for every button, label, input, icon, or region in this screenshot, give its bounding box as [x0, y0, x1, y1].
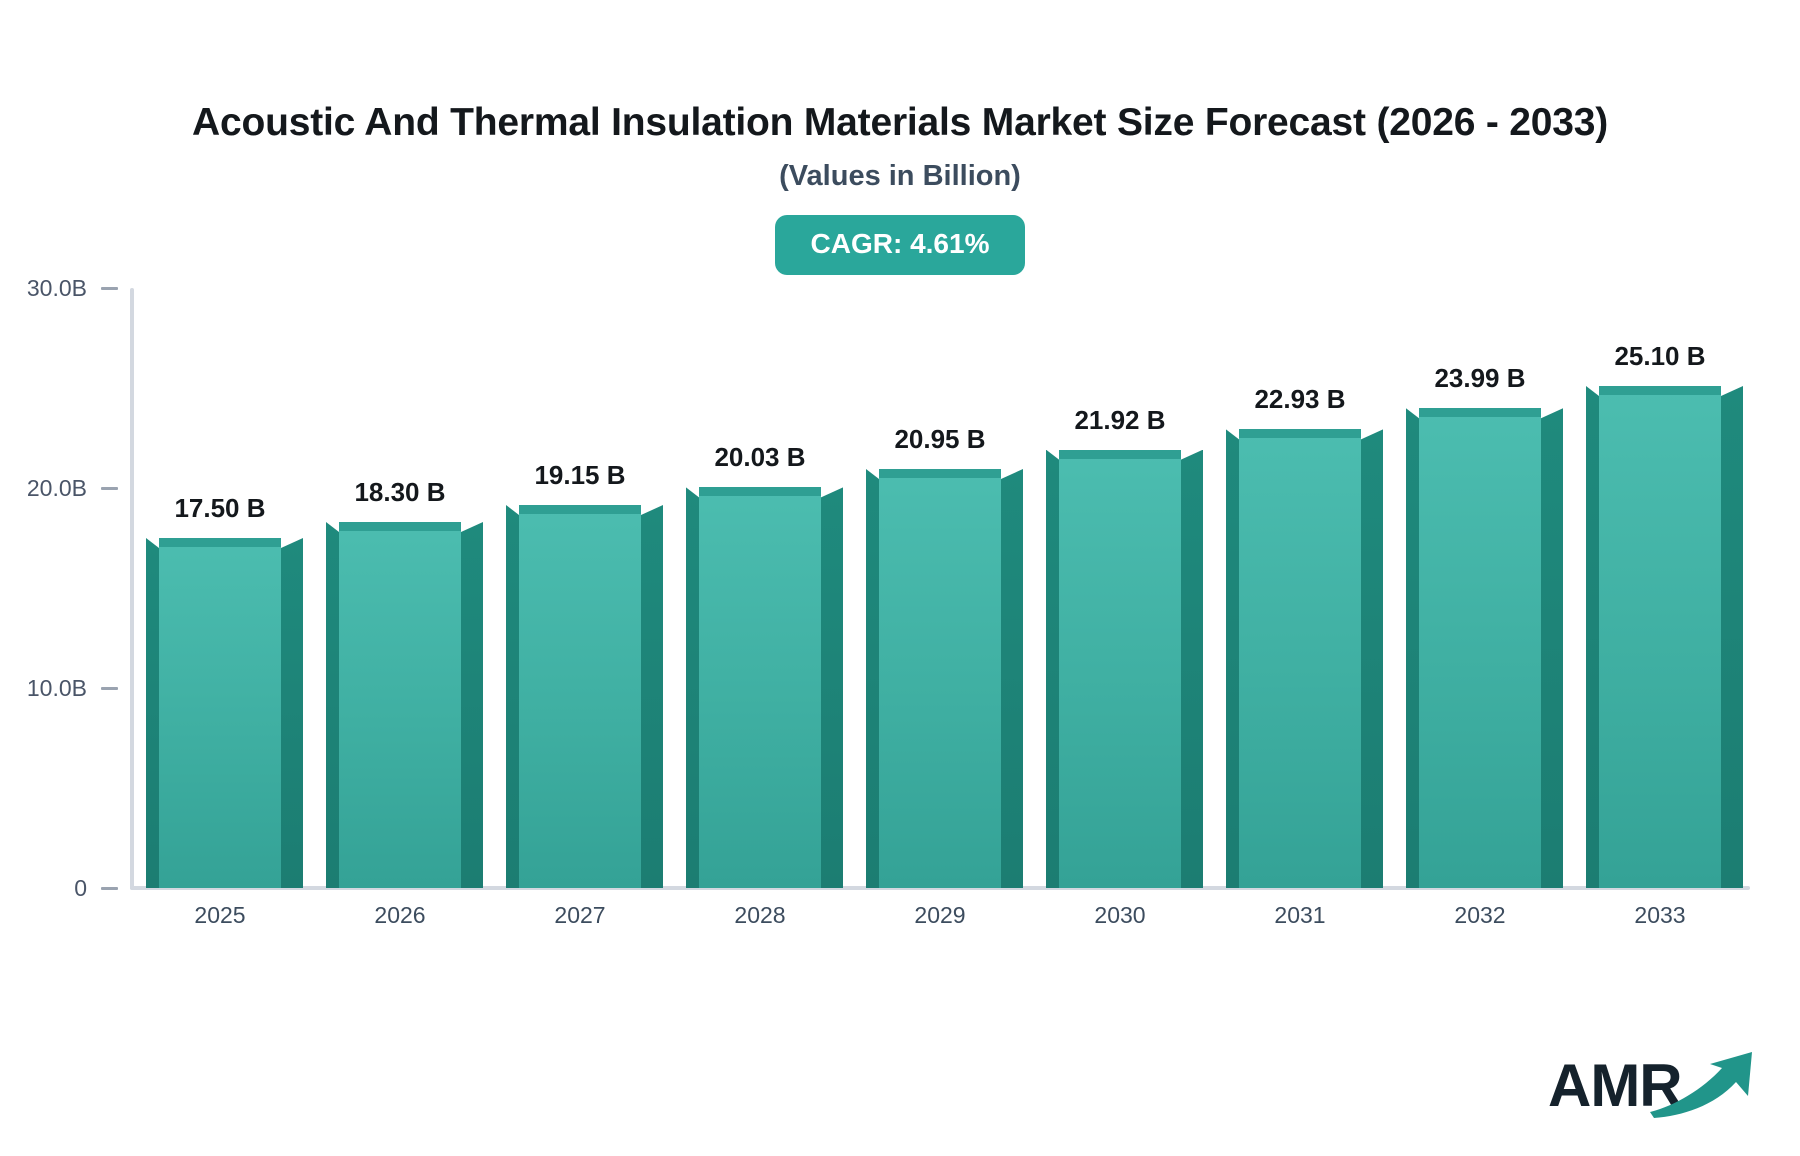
bar-series: 17.50 B18.30 B19.15 B20.03 B20.95 B21.92… — [130, 288, 1750, 888]
bar-column[interactable] — [1059, 288, 1181, 888]
bar-left-face — [146, 538, 159, 888]
amr-logo: AMR — [1548, 1048, 1758, 1128]
bar-right-face — [1721, 386, 1743, 888]
bar-front-face — [519, 505, 641, 888]
bar-left-face — [1406, 408, 1419, 888]
bar-top-face — [1059, 450, 1181, 459]
bar-column[interactable] — [519, 288, 641, 888]
bar[interactable] — [339, 522, 461, 888]
y-axis-tick: 10.0B — [0, 673, 126, 703]
chart-page: Acoustic And Thermal Insulation Material… — [0, 0, 1800, 1156]
bar-column[interactable] — [339, 288, 461, 888]
bar-top-face — [879, 469, 1001, 478]
bar-front-face — [1599, 386, 1721, 888]
bar-top-face — [699, 487, 821, 496]
bar-left-face — [1586, 386, 1599, 888]
y-axis-tick-mark — [101, 287, 118, 290]
y-axis-tick-label: 0 — [74, 875, 87, 902]
bar-top-face — [159, 538, 281, 547]
bar-right-face — [1001, 469, 1023, 888]
y-axis-tick: 30.0B — [0, 273, 126, 303]
bar[interactable] — [519, 505, 641, 888]
bar-left-face — [1046, 450, 1059, 888]
bar-right-face — [821, 487, 843, 888]
bar-front-face — [159, 538, 281, 888]
bar-front-face — [879, 469, 1001, 888]
bar[interactable] — [159, 538, 281, 888]
bar-left-face — [326, 522, 339, 888]
y-axis-tick-mark — [101, 687, 118, 690]
growth-arrow-icon — [1648, 1050, 1768, 1120]
bar-top-face — [519, 505, 641, 514]
bar-right-face — [641, 505, 663, 888]
bar[interactable] — [699, 487, 821, 888]
bar-front-face — [1059, 450, 1181, 888]
bar-left-face — [866, 469, 879, 888]
bar[interactable] — [1599, 386, 1721, 888]
bar-left-face — [1226, 429, 1239, 888]
bar-column[interactable] — [159, 288, 281, 888]
x-axis-label: 2033 — [1550, 902, 1770, 929]
y-axis-tick-mark — [101, 487, 118, 490]
y-axis-tick-label: 20.0B — [27, 475, 87, 502]
bar-top-face — [1419, 408, 1541, 417]
bar[interactable] — [879, 469, 1001, 888]
bar-front-face — [1419, 408, 1541, 888]
bar-front-face — [1239, 429, 1361, 888]
y-axis-tick: 0 — [0, 873, 126, 903]
bar-right-face — [461, 522, 483, 888]
bar-right-face — [1361, 429, 1383, 888]
bar[interactable] — [1419, 408, 1541, 888]
bar-right-face — [281, 538, 303, 888]
bar-right-face — [1181, 450, 1203, 888]
y-axis-tick-label: 30.0B — [27, 275, 87, 302]
bar-top-face — [339, 522, 461, 531]
bar-value-label: 25.10 B — [1550, 341, 1770, 372]
y-axis-tick-mark — [101, 887, 118, 890]
bar-column[interactable] — [699, 288, 821, 888]
bar-top-face — [1599, 386, 1721, 395]
bar[interactable] — [1239, 429, 1361, 888]
x-axis-labels: 202520262027202820292030203120322033 — [130, 902, 1750, 942]
bar-front-face — [699, 487, 821, 888]
bar[interactable] — [1059, 450, 1181, 888]
y-axis-tick: 20.0B — [0, 473, 126, 503]
bar-column[interactable] — [1599, 288, 1721, 888]
y-axis-tick-label: 10.0B — [27, 675, 87, 702]
bar-front-face — [339, 522, 461, 888]
bar-right-face — [1541, 408, 1563, 888]
bar-column[interactable] — [879, 288, 1001, 888]
bar-left-face — [686, 487, 699, 888]
bar-top-face — [1239, 429, 1361, 438]
chart-plot-area: 30.0B20.0B10.0B0 17.50 B18.30 B19.15 B20… — [0, 0, 1800, 1156]
bar-column[interactable] — [1239, 288, 1361, 888]
bar-left-face — [506, 505, 519, 888]
